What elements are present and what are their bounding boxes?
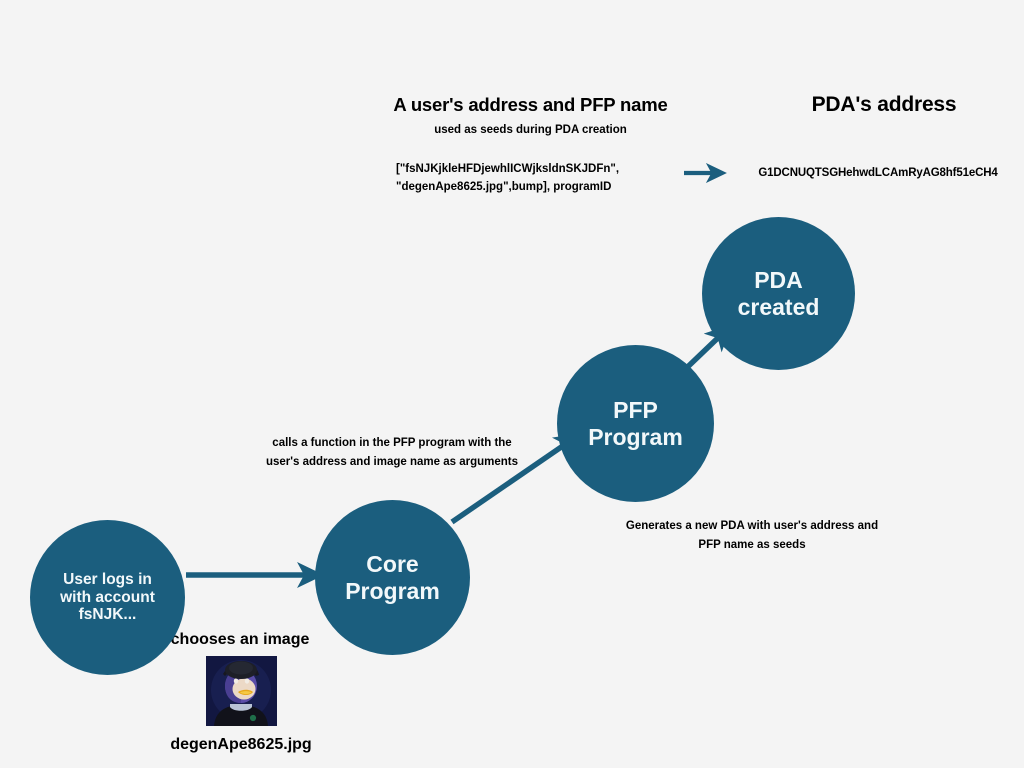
- node-user-logs-in[interactable]: User logs in with account fsNJK...: [30, 520, 185, 675]
- node-core-program[interactable]: Core Program: [315, 500, 470, 655]
- core-to-pfp-arrow: [452, 441, 570, 522]
- node-pfp-program[interactable]: PFP Program: [557, 345, 714, 502]
- node-pda-created[interactable]: PDA created: [702, 217, 855, 370]
- diagram-canvas: A user's address and PFP name used as se…: [0, 0, 1024, 768]
- degen-ape-avatar-image: [206, 656, 277, 726]
